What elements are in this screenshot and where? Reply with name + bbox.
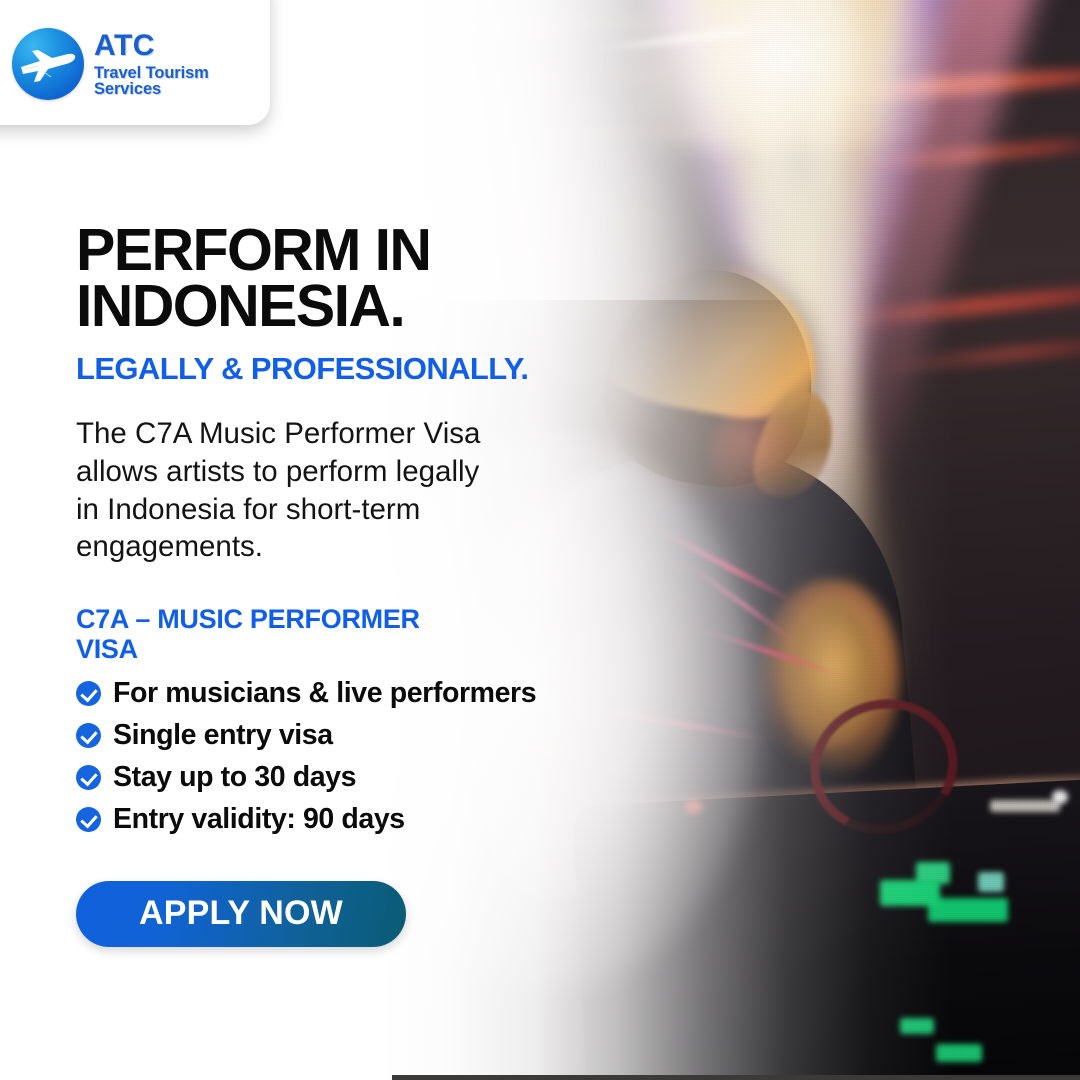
list-item: Stay up to 30 days	[76, 761, 636, 794]
visa-list-title: C7A – MUSIC PERFORMER VISA	[76, 604, 636, 664]
apply-now-label: APPLY NOW	[139, 894, 343, 933]
list-item-label: Stay up to 30 days	[113, 761, 356, 794]
description-text: The C7A Music Performer Visa allows arti…	[76, 415, 636, 566]
list-item: Entry validity: 90 days	[76, 803, 636, 836]
check-circle-icon	[76, 681, 101, 706]
list-item: Single entry visa	[76, 719, 636, 752]
list-item: For musicians & live performers	[76, 677, 636, 710]
bottom-divider	[392, 1075, 1080, 1080]
brand-logo-card[interactable]: ATC Travel Tourism Services	[0, 0, 270, 125]
brand-tagline: Travel Tourism Services	[94, 65, 270, 98]
list-item-label: Entry validity: 90 days	[113, 803, 405, 836]
content-column: PERFORM IN INDONESIA. LEGALLY & PROFESSI…	[76, 222, 636, 947]
list-item-label: Single entry visa	[113, 719, 333, 752]
visa-feature-list: For musicians & live performers Single e…	[76, 677, 636, 836]
brand-name: ATC	[94, 31, 270, 61]
airplane-icon	[12, 28, 84, 100]
list-item-label: For musicians & live performers	[113, 677, 536, 710]
page-title: PERFORM IN INDONESIA.	[76, 222, 636, 334]
check-circle-icon	[76, 723, 101, 748]
check-circle-icon	[76, 765, 101, 790]
promotional-poster: ATC Travel Tourism Services PERFORM IN I…	[0, 0, 1080, 1080]
brand-logo: ATC Travel Tourism Services	[12, 28, 270, 100]
page-subtitle: LEGALLY & PROFESSIONALLY.	[76, 351, 636, 387]
apply-now-button[interactable]: APPLY NOW	[76, 881, 406, 947]
check-circle-icon	[76, 807, 101, 832]
brand-wordmark: ATC Travel Tourism Services	[94, 31, 270, 98]
